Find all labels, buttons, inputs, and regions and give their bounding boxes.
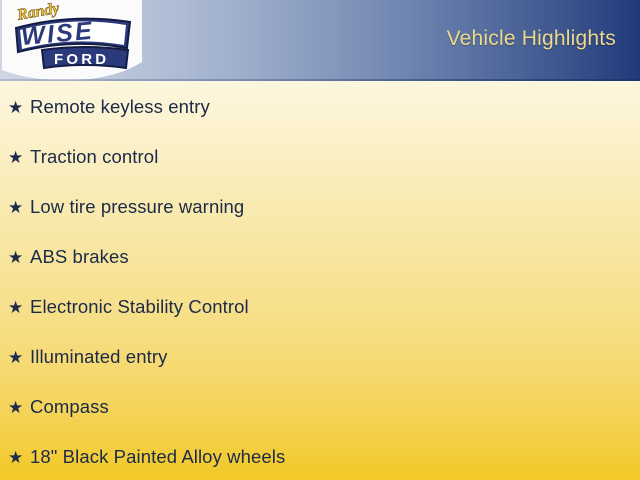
list-item-label: Electronic Stability Control [30, 296, 249, 318]
list-item: ★ ABS brakes [8, 244, 129, 270]
star-bullet-icon: ★ [8, 249, 30, 266]
list-item-label: 18" Black Painted Alloy wheels [30, 446, 285, 468]
svg-text:FORD: FORD [54, 51, 109, 68]
list-item: ★ Remote keyless entry [8, 94, 210, 120]
star-bullet-icon: ★ [8, 199, 30, 216]
list-item-label: Traction control [30, 146, 158, 168]
star-bullet-icon: ★ [8, 399, 30, 416]
list-item: ★ Compass [8, 394, 109, 420]
logo-ford-banner: FORD [42, 47, 128, 68]
list-item: ★ 18" Black Painted Alloy wheels [8, 444, 285, 470]
star-bullet-icon: ★ [8, 149, 30, 166]
header-bar: WISE Randy FORD Vehicle Highlights [0, 0, 640, 81]
page-title: Vehicle Highlights [447, 27, 616, 51]
star-bullet-icon: ★ [8, 349, 30, 366]
list-item: ★ Illuminated entry [8, 344, 167, 370]
star-bullet-icon: ★ [8, 299, 30, 316]
vehicle-highlights-list: ★ Remote keyless entry ★ Traction contro… [0, 81, 640, 480]
list-item: ★ Traction control [8, 144, 158, 170]
star-bullet-icon: ★ [8, 449, 30, 466]
list-item-label: Remote keyless entry [30, 96, 210, 118]
list-item: ★ Low tire pressure warning [8, 194, 244, 220]
list-item: ★ Electronic Stability Control [8, 294, 249, 320]
list-item-label: Compass [30, 396, 109, 418]
vehicle-highlights-slide: WISE Randy FORD Vehicle Highlights ★ Rem… [0, 0, 640, 480]
list-item-label: ABS brakes [30, 246, 129, 268]
list-item-label: Low tire pressure warning [30, 196, 244, 218]
list-item-label: Illuminated entry [30, 346, 167, 368]
star-bullet-icon: ★ [8, 99, 30, 116]
randy-wise-ford-logo: WISE Randy FORD [2, 0, 142, 81]
